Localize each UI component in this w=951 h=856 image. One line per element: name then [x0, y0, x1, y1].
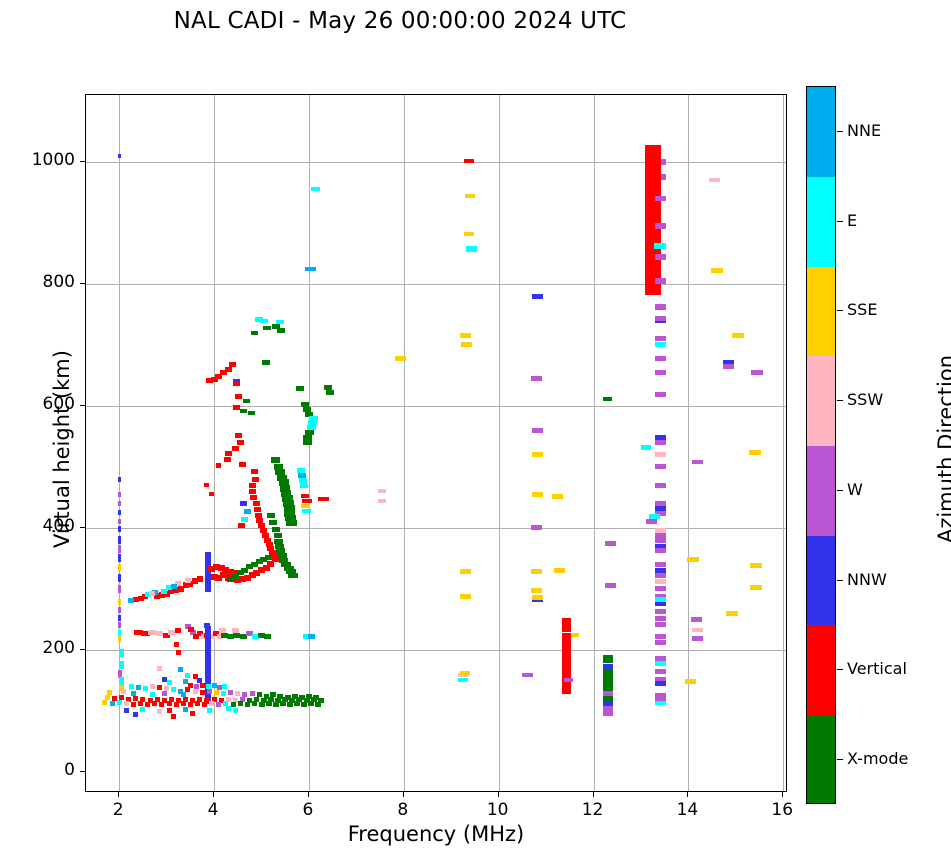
x-tick-label: 10 — [473, 800, 523, 820]
data-point — [692, 636, 703, 641]
data-point — [460, 594, 471, 599]
data-point — [562, 618, 571, 632]
data-point — [655, 278, 666, 284]
data-point — [267, 513, 275, 518]
data-point — [303, 440, 312, 445]
data-point — [250, 691, 255, 696]
colorbar-segment-ssw — [807, 356, 835, 446]
data-point — [655, 622, 666, 627]
data-point — [655, 548, 666, 553]
data-point — [231, 702, 236, 707]
x-tick-mark — [118, 792, 119, 797]
x-tick-label: 6 — [283, 800, 333, 820]
x-tick-label: 14 — [662, 800, 712, 820]
data-point — [235, 691, 240, 696]
data-point — [687, 557, 699, 562]
colorbar-label-nne: NNE — [847, 121, 881, 140]
colorbar-segment-nnw — [807, 536, 835, 626]
x-tick-mark — [593, 792, 594, 797]
colorbar-segment-nne — [807, 87, 835, 177]
data-point — [751, 370, 763, 375]
data-point — [264, 634, 271, 639]
data-point — [167, 708, 172, 713]
data-point — [162, 691, 167, 696]
data-point — [118, 536, 121, 544]
data-point — [207, 689, 212, 694]
colorbar-label-nnw: NNW — [847, 570, 887, 589]
data-point — [655, 640, 666, 645]
data-point — [250, 495, 257, 500]
data-point — [118, 545, 121, 553]
data-point — [129, 684, 134, 689]
colorbar-label-x-mode: X-mode — [847, 749, 908, 768]
data-point — [655, 223, 666, 229]
data-point — [655, 661, 666, 666]
data-point — [216, 463, 221, 468]
data-point — [188, 702, 193, 707]
data-point — [207, 708, 212, 713]
x-tick-mark — [403, 792, 404, 797]
data-point — [655, 392, 666, 397]
colorbar-tick — [837, 669, 843, 670]
data-point — [655, 701, 666, 705]
data-point — [655, 254, 666, 260]
data-point — [655, 464, 666, 469]
data-point — [188, 627, 194, 632]
x-tick-mark — [213, 792, 214, 797]
data-point — [326, 390, 334, 395]
data-point — [190, 711, 195, 716]
data-point — [299, 478, 307, 483]
colorbar-tick — [837, 759, 843, 760]
data-point — [102, 700, 107, 705]
y-tick-mark — [80, 527, 85, 528]
data-point — [171, 687, 176, 692]
data-point — [465, 194, 475, 198]
data-point — [222, 684, 227, 689]
data-point — [216, 702, 221, 707]
data-point — [273, 702, 279, 707]
data-point — [302, 509, 311, 513]
data-point — [118, 599, 121, 605]
x-tick-mark — [782, 792, 783, 797]
colorbar-segment-w — [807, 446, 835, 536]
data-point — [183, 707, 188, 712]
data-point — [274, 533, 282, 538]
data-point — [645, 262, 659, 271]
data-point — [655, 196, 666, 201]
data-point — [655, 609, 666, 614]
data-point — [251, 469, 258, 474]
data-point — [300, 483, 308, 488]
data-point — [255, 317, 263, 322]
data-point — [378, 489, 386, 493]
x-tick-label: 2 — [93, 800, 143, 820]
data-point — [232, 628, 239, 633]
data-point — [249, 489, 256, 494]
scatter-layer — [86, 95, 786, 791]
data-point — [308, 634, 315, 639]
data-point — [711, 268, 723, 273]
data-point — [564, 678, 573, 682]
data-point — [297, 468, 305, 473]
data-point — [562, 633, 571, 640]
data-point — [461, 342, 472, 347]
data-point — [532, 294, 543, 299]
data-point — [272, 527, 280, 532]
x-axis-label: Frequency (MHz) — [85, 822, 787, 846]
data-point — [119, 649, 124, 657]
x-tick-label: 8 — [378, 800, 428, 820]
data-point — [603, 397, 612, 401]
data-point — [136, 685, 141, 690]
data-point — [239, 462, 246, 467]
data-point — [749, 450, 761, 455]
data-point — [157, 685, 162, 690]
data-point — [655, 562, 666, 567]
data-point — [240, 409, 247, 413]
data-point — [531, 569, 542, 574]
data-point — [175, 628, 181, 633]
data-point — [212, 683, 217, 688]
data-point — [150, 684, 155, 689]
colorbar-label-e: E — [847, 211, 857, 230]
data-point — [655, 452, 666, 457]
data-point — [252, 701, 257, 706]
data-point — [464, 232, 474, 236]
data-point — [315, 702, 321, 707]
data-point — [110, 701, 115, 706]
data-point — [159, 702, 164, 707]
colorbar-segment-e — [807, 177, 835, 267]
data-point — [145, 702, 150, 707]
plot-area — [85, 94, 787, 792]
data-point — [149, 591, 155, 596]
data-point — [460, 671, 470, 675]
data-point — [571, 633, 579, 637]
data-point — [118, 615, 121, 621]
data-point — [654, 243, 666, 249]
y-tick-mark — [80, 161, 85, 162]
data-point — [118, 519, 121, 524]
data-point — [131, 691, 136, 696]
data-point — [195, 701, 200, 706]
data-point — [161, 589, 167, 594]
data-point — [655, 597, 666, 602]
data-point — [118, 622, 121, 628]
data-point — [226, 706, 231, 711]
data-point — [118, 510, 121, 515]
data-point — [655, 370, 666, 375]
data-point — [692, 460, 703, 464]
data-point — [732, 333, 744, 338]
data-point — [143, 686, 148, 691]
data-point — [118, 501, 121, 506]
colorbar-tick — [837, 221, 843, 222]
data-point — [562, 654, 571, 694]
y-tick-mark — [80, 283, 85, 284]
data-point — [552, 494, 563, 499]
data-point — [227, 577, 234, 582]
y-tick-mark — [80, 771, 85, 772]
data-point — [119, 661, 124, 669]
data-point — [176, 650, 181, 655]
data-point — [655, 483, 666, 488]
colorbar-tick — [837, 310, 843, 311]
data-point — [655, 681, 666, 686]
data-point — [193, 689, 198, 694]
data-point — [750, 563, 762, 568]
data-point — [603, 706, 613, 716]
data-point — [118, 574, 121, 582]
data-point — [249, 483, 256, 488]
data-point — [301, 504, 310, 508]
data-point — [238, 701, 243, 706]
data-point — [655, 304, 666, 310]
data-point — [301, 702, 307, 707]
data-point — [645, 145, 661, 295]
data-point — [603, 655, 613, 663]
data-point — [181, 692, 186, 697]
colorbar — [806, 86, 836, 804]
data-point — [118, 607, 121, 613]
data-point — [118, 630, 121, 636]
data-point — [458, 678, 468, 682]
data-point — [655, 342, 666, 347]
data-point — [603, 669, 613, 691]
data-point — [709, 178, 720, 182]
data-point — [174, 702, 179, 707]
data-point — [253, 501, 260, 506]
data-point — [531, 376, 542, 381]
x-tick-label: 12 — [568, 800, 618, 820]
data-point — [118, 477, 121, 482]
data-point — [174, 642, 179, 647]
colorbar-tick — [837, 490, 843, 491]
data-point — [302, 499, 312, 503]
data-point — [750, 585, 762, 590]
data-point — [118, 564, 121, 571]
colorbar-tick — [837, 400, 843, 401]
data-point — [224, 457, 231, 462]
data-point — [248, 411, 255, 415]
data-point — [271, 457, 280, 463]
x-tick-mark — [687, 792, 688, 797]
data-point — [235, 433, 242, 438]
colorbar-label-ssw: SSW — [847, 390, 883, 409]
colorbar-tick — [837, 580, 843, 581]
data-point — [200, 683, 205, 688]
data-point — [262, 360, 270, 365]
data-point — [118, 154, 121, 158]
data-point — [532, 428, 543, 433]
data-point — [167, 680, 172, 685]
data-point — [237, 440, 244, 445]
data-point — [287, 702, 293, 707]
colorbar-label-w: W — [847, 480, 863, 499]
colorbar-segment-sse — [807, 267, 835, 357]
data-point — [209, 492, 214, 496]
data-point — [259, 702, 265, 707]
data-point — [206, 378, 213, 383]
x-tick-mark — [498, 792, 499, 797]
data-point — [168, 630, 175, 635]
data-point — [655, 316, 666, 321]
data-point — [209, 701, 214, 706]
data-point — [150, 692, 155, 697]
data-point — [655, 336, 666, 341]
data-point — [294, 701, 300, 706]
data-point — [251, 331, 258, 335]
data-point — [235, 394, 242, 399]
data-point — [298, 473, 306, 478]
data-point — [152, 701, 157, 706]
data-point — [691, 617, 702, 622]
data-point — [219, 628, 226, 633]
data-point — [311, 187, 320, 191]
y-tick-mark — [80, 405, 85, 406]
data-point — [532, 492, 543, 497]
data-point — [288, 573, 298, 578]
data-point — [240, 501, 247, 506]
data-point — [460, 569, 471, 574]
data-point — [275, 469, 285, 475]
data-point — [131, 702, 136, 707]
data-point — [228, 690, 233, 695]
data-point — [118, 636, 121, 642]
x-tick-label: 16 — [757, 800, 807, 820]
data-point — [464, 159, 474, 163]
data-point — [233, 708, 238, 713]
data-point — [641, 445, 651, 450]
ionogram-figure: NAL CADI - May 26 00:00:00 2024 UTC 2468… — [0, 0, 951, 856]
data-point — [532, 452, 543, 457]
data-point — [263, 326, 271, 330]
data-point — [395, 356, 406, 361]
data-point — [185, 673, 190, 678]
data-point — [655, 538, 666, 543]
data-point — [238, 523, 245, 528]
colorbar-segment-vertical — [807, 626, 835, 716]
y-axis-label: Virtual height (km) — [50, 99, 74, 799]
colorbar-title: Azimuth Direction — [934, 99, 951, 799]
data-point — [118, 526, 121, 532]
data-point — [157, 709, 162, 714]
data-point — [181, 701, 186, 706]
data-point — [124, 708, 129, 713]
data-point — [118, 554, 121, 562]
colorbar-segment-x-mode — [807, 715, 835, 804]
data-point — [107, 690, 112, 695]
data-point — [655, 616, 666, 621]
data-point — [267, 561, 274, 567]
data-point — [378, 499, 386, 503]
data-point — [232, 446, 239, 451]
data-point — [605, 583, 616, 588]
data-point — [655, 669, 666, 674]
data-point — [655, 440, 666, 445]
data-point — [171, 584, 177, 589]
data-point — [156, 631, 163, 636]
data-point — [171, 714, 176, 719]
data-point — [254, 507, 261, 512]
data-point — [301, 494, 309, 498]
data-point — [178, 667, 183, 672]
colorbar-label-vertical: Vertical — [847, 659, 907, 678]
data-point — [185, 578, 191, 583]
x-tick-mark — [308, 792, 309, 797]
data-point — [221, 691, 226, 696]
data-point — [121, 689, 126, 694]
data-point — [225, 451, 232, 456]
data-point — [655, 634, 666, 639]
data-point — [655, 573, 666, 578]
data-point — [554, 568, 565, 573]
data-point — [531, 588, 542, 593]
data-point — [243, 399, 250, 403]
y-tick-mark — [80, 649, 85, 650]
data-point — [723, 364, 734, 369]
data-point — [646, 519, 657, 524]
data-point — [266, 701, 272, 706]
data-point — [522, 673, 533, 677]
data-point — [318, 497, 329, 501]
data-point — [128, 598, 134, 603]
data-point — [185, 687, 190, 692]
data-point — [140, 707, 145, 712]
data-point — [157, 666, 162, 671]
data-point — [305, 267, 316, 271]
data-point — [117, 700, 122, 705]
data-point — [655, 579, 666, 584]
data-point — [308, 701, 314, 706]
data-point — [685, 679, 696, 684]
data-point — [269, 520, 277, 525]
data-point — [252, 477, 259, 482]
data-point — [272, 324, 280, 329]
data-point — [286, 520, 297, 526]
x-tick-label: 4 — [188, 800, 238, 820]
data-point — [204, 483, 209, 487]
data-point — [133, 712, 138, 717]
data-point — [214, 690, 219, 695]
data-point — [692, 628, 703, 632]
colorbar-tick — [837, 131, 843, 132]
data-point — [233, 381, 240, 386]
page-title: NAL CADI - May 26 00:00:00 2024 UTC — [0, 8, 800, 34]
colorbar-label-sse: SSE — [847, 300, 877, 319]
data-point — [241, 517, 248, 522]
data-point — [460, 333, 471, 338]
data-point — [531, 525, 542, 530]
data-point — [605, 541, 616, 546]
data-point — [200, 690, 205, 695]
data-point — [245, 702, 250, 707]
data-point — [655, 356, 666, 361]
data-point — [532, 595, 543, 600]
data-point — [655, 586, 666, 591]
data-point — [466, 246, 477, 252]
data-point — [280, 701, 286, 706]
data-point — [118, 492, 121, 497]
data-point — [118, 585, 121, 593]
data-point — [138, 701, 143, 706]
data-point — [296, 386, 304, 391]
data-point — [265, 555, 272, 560]
data-point — [726, 611, 738, 616]
data-point — [244, 509, 251, 514]
data-point — [124, 701, 129, 706]
